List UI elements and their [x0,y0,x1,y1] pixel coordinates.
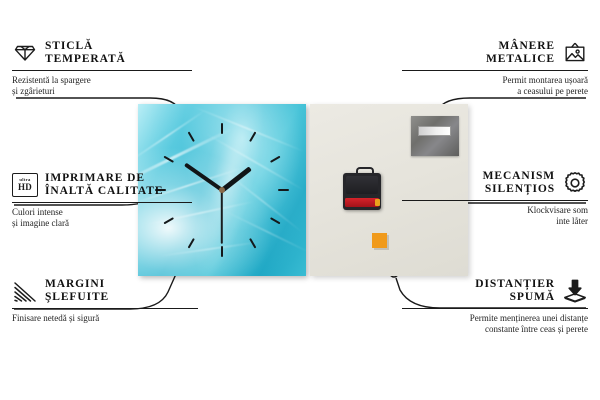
clock-tick [270,217,281,224]
hd-badge-box: ultra HD [12,173,38,197]
callout-subtitle-line: constante între ceas și perete [485,324,588,334]
clock-tick [278,189,289,191]
mechanism-body [346,176,378,194]
callout-title-line: MARGINI [45,278,105,290]
callout-divider [402,200,588,201]
callout-title-line: DISTANȚIER [475,278,555,290]
callout-title-line: MECANISM [483,170,555,182]
callout-subtitle: Culori intenseși imagine clară [12,207,192,229]
beveled-edge-icon [12,278,38,304]
callout-subtitle: Finisare netedă și sigură [12,313,198,324]
callout-title: IMPRIMARE DEÎNALTĂ CALITATE [45,172,163,197]
callout-subtitle-line: inte låter [556,216,588,226]
callout-title-line: STICLĂ [45,40,93,52]
metal-hanger-plate [411,116,459,156]
callout-divider [402,308,588,309]
clock-second-hand [221,188,223,244]
callout-title: STICLĂTEMPERATĂ [45,40,126,65]
callout-header: MECANISMSILENȚIOS [402,170,588,196]
callout-foam-spacer: DISTANȚIERSPUMĂ Permite menținerea unei … [402,278,588,335]
hd-badge-main-text: HD [18,183,32,192]
callout-title-line: ŞLEFUITE [45,291,109,303]
battery-positive-terminal [375,199,380,206]
callout-title-line: IMPRIMARE DE [45,172,145,184]
callout-title: MÂNEREMETALICE [486,40,555,65]
mechanism-hanging-lug [356,167,374,177]
callout-subtitle: Rezistentă la spargereși zgârieturi [12,75,192,97]
callout-header: MÂNEREMETALICE [402,40,588,66]
callout-subtitle-line: și zgârieturi [12,86,55,96]
callout-divider [12,308,198,309]
callout-title: DISTANȚIERSPUMĂ [475,278,555,303]
callout-tempered-glass: STICLĂTEMPERATĂ Rezistentă la spargereși… [12,40,192,97]
callout-subtitle-line: Klockvisare som [527,205,588,215]
hanger-slot [418,126,451,136]
callout-subtitle: Permite menținerea unei distanțeconstant… [402,313,588,335]
callout-header: ultra HD IMPRIMARE DEÎNALTĂ CALITATE [12,172,192,198]
product-feature-infographic: STICLĂTEMPERATĂ Rezistentă la spargereși… [0,0,600,400]
callout-subtitle-line: Finisare netedă și sigură [12,313,99,323]
callout-title-line: SPUMĂ [510,291,555,303]
callout-divider [12,70,192,71]
callout-subtitle-line: Culori intense [12,207,63,217]
callout-subtitle-line: a ceasului pe perete [517,86,588,96]
clock-tick [188,131,195,142]
diamond-icon [12,40,38,66]
callout-divider [12,202,192,203]
callout-title: MARGINIŞLEFUITE [45,278,109,303]
callout-subtitle-line: și imagine clară [12,218,69,228]
callout-divider [402,70,588,71]
callout-silent-mechanism: MECANISMSILENȚIOS Klockvisare sominte lå… [402,170,588,227]
callout-header: DISTANȚIERSPUMĂ [402,278,588,304]
ultra-hd-badge-icon: ultra HD [12,172,38,198]
callout-title: MECANISMSILENȚIOS [483,170,555,195]
callout-subtitle-line: Rezistentă la spargere [12,75,91,85]
foam-spacer-pad [372,233,387,248]
callout-subtitle-line: Permit montarea ușoară [503,75,588,85]
callout-polished-edges: MARGINIŞLEFUITE Finisare netedă și sigur… [12,278,198,324]
callout-title-line: SILENȚIOS [485,183,555,195]
press-down-arrow-icon [562,278,588,304]
callout-subtitle: Permit montarea ușoarăa ceasului pe pere… [402,75,588,97]
battery [345,198,378,207]
clock-tick [221,246,223,257]
callout-subtitle-line: Permite menținerea unei distanțe [470,313,588,323]
callout-title-line: MÂNERE [498,40,555,52]
callout-header: MARGINIŞLEFUITE [12,278,198,304]
callout-header: STICLĂTEMPERATĂ [12,40,192,66]
callout-metal-hangers: MÂNEREMETALICE Permit montarea ușoarăa c… [402,40,588,97]
callout-hd-print: ultra HD IMPRIMARE DEÎNALTĂ CALITATE Cul… [12,172,192,229]
clock-mechanism-module [343,173,381,210]
callout-subtitle: Klockvisare sominte låter [402,205,588,227]
callout-title-line: METALICE [486,53,555,65]
gear-icon [562,170,588,196]
callout-title-line: TEMPERATĂ [45,53,126,65]
clock-tick [221,123,223,134]
callout-title-line: ÎNALTĂ CALITATE [45,185,163,197]
clock-hand-cap [219,187,225,193]
picture-frame-icon [562,40,588,66]
